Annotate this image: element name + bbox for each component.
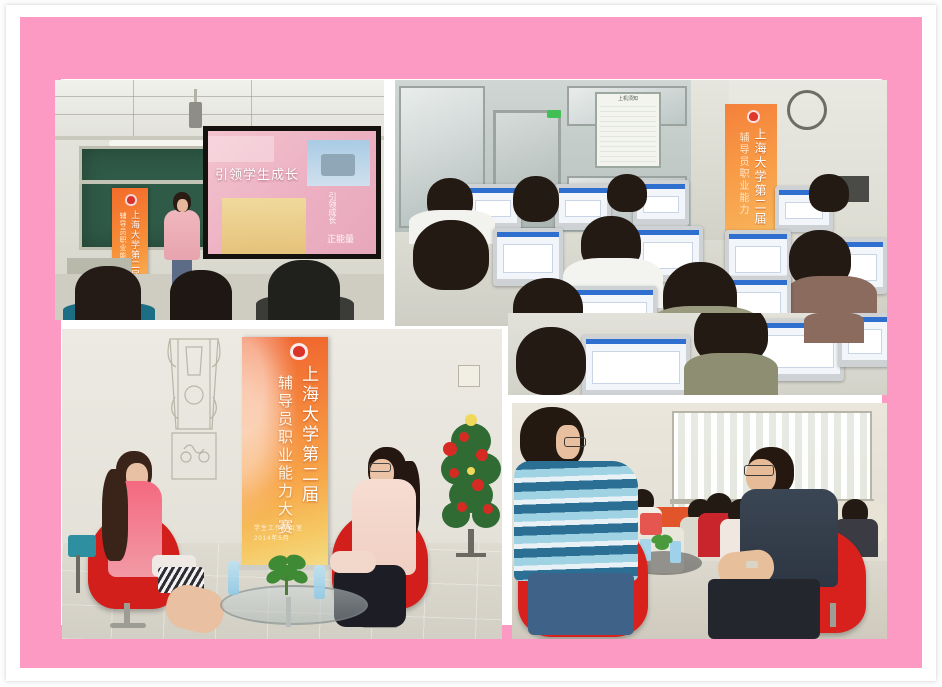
ceiling-projector-icon [189,102,202,128]
collage-root: 引领学生成长 引领成长 正能量 上海大学第二届 辅导员职业能力大赛 Female… [0,0,942,687]
computer-monitor [582,335,690,395]
audience-member [268,260,340,320]
banner-line2-text: 辅导员职业能力大赛 [274,375,295,537]
exit-sign-icon [547,110,561,118]
presenter-figure [164,210,200,260]
lab-closeup-photo: Close-up of participants at computer mon… [508,313,887,395]
heart-logo-icon [125,194,137,206]
audience-member [75,266,141,320]
slide-title-text: 引领学生成长 [215,164,327,183]
water-bottle [228,561,239,595]
eyeglasses-icon [564,437,586,447]
group-discussion-photo: Group of people seated on red chairs and… [512,403,887,639]
participant [684,353,778,395]
audience-member [170,270,232,320]
notice-title-text: 上机须知 [599,95,657,102]
wristwatch-icon [746,561,758,568]
heart-logo-icon [747,110,760,123]
participant [809,174,849,212]
classroom-presentation-photo: 引领学生成长 引领成长 正能量 上海大学第二届 辅导员职业能力大赛 Female… [55,80,384,320]
banner-line2-text: 辅导员职业能力 [735,132,750,216]
gift-box [640,513,662,535]
water-bottle [314,565,325,599]
potted-plant [650,533,674,553]
slide-subtitle-text: 引领成长 [327,192,338,224]
banner-footer2-text: 2014年5月 [254,533,290,542]
computer-lab-photo: 上机须知 上海大学第二届 辅导员职业能力 [395,80,887,326]
interview-session-photo: 上海大学第二届 辅导员职业能力大赛 学生工作办公室 2014年5月 [62,329,502,639]
participant [607,174,647,212]
participant [804,313,864,343]
participant [513,176,559,222]
heart-logo-icon [290,343,308,360]
foreground-person-left [514,461,638,581]
wall-poster [458,365,480,387]
banner-line1-text: 上海大学第二届 [752,128,769,226]
participant [413,220,489,290]
wall-relief-decoration [158,337,230,489]
wall-clock-icon [787,90,827,130]
banner-line1-text: 上海大学第二届 [296,365,321,505]
participant [516,327,586,395]
banner-footer1-text: 学生工作办公室 [254,523,303,532]
decorated-tree [440,411,502,561]
eyeglasses-icon [369,463,391,472]
slide-name-text: 正能量 [327,232,354,245]
potted-plant [266,553,310,597]
background-chair [68,535,96,557]
eyeglasses-icon [744,465,774,476]
